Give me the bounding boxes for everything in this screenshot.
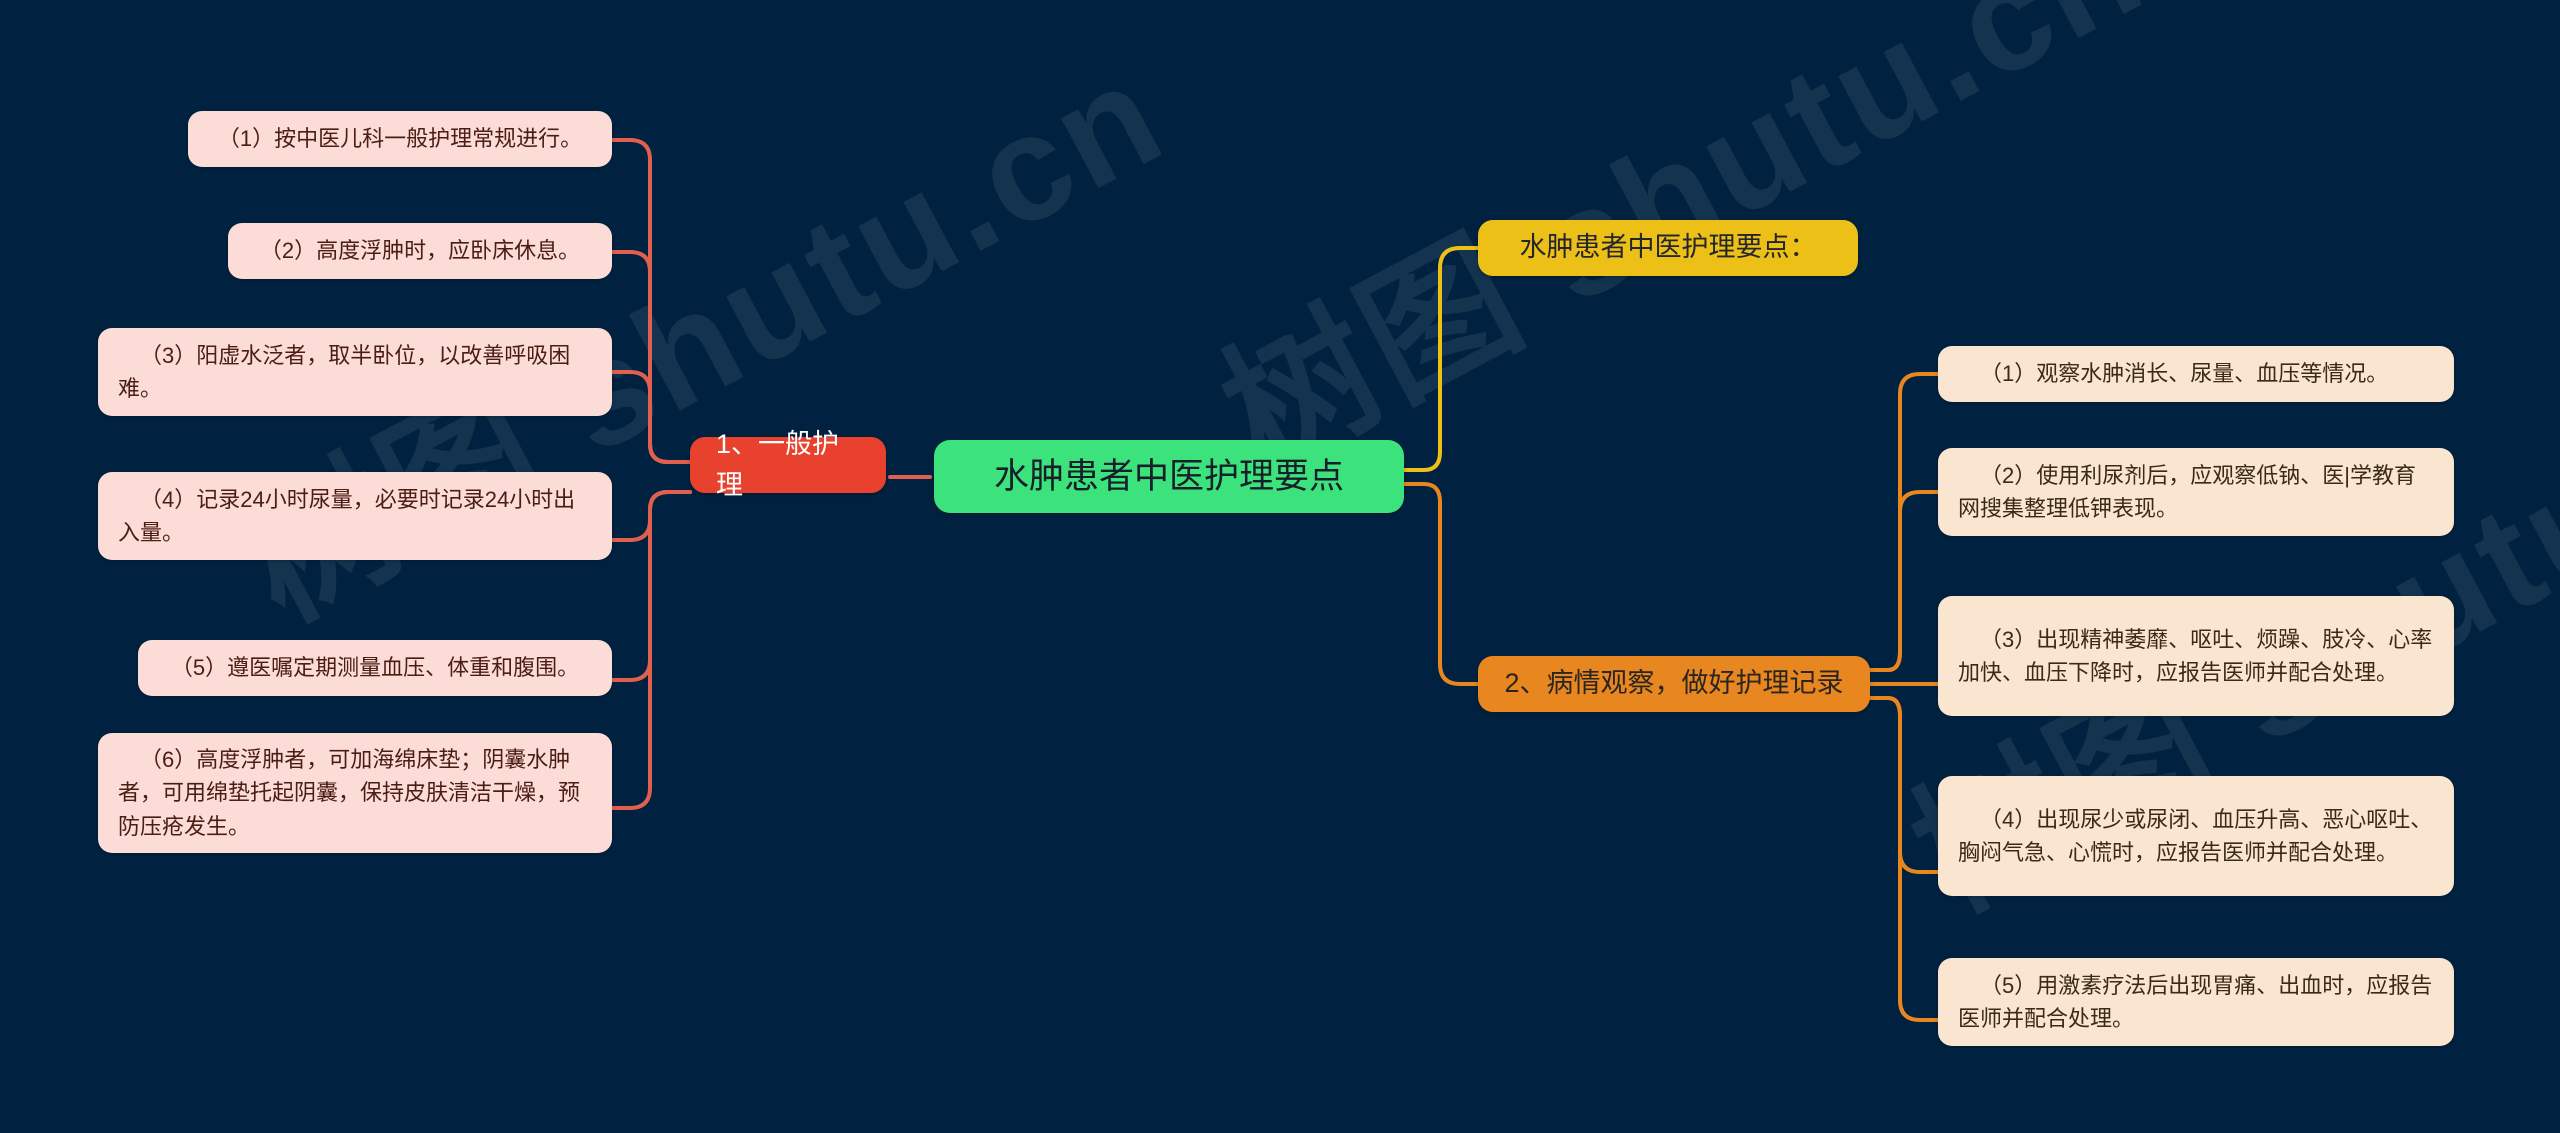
leaf-node[interactable]: （3）阳虚水泛者，取半卧位，以改善呼吸困难。 bbox=[98, 328, 612, 416]
leaf-node[interactable]: （1）观察水肿消长、尿量、血压等情况。 bbox=[1938, 346, 2454, 402]
leaf-node-label: （4）出现尿少或尿闭、血压升高、恶心呕吐、胸闷气急、心慌时，应报告医师并配合处理… bbox=[1958, 803, 2434, 870]
link-root-to-yellow-branch bbox=[1404, 248, 1478, 470]
root-node[interactable]: 水肿患者中医护理要点 bbox=[934, 440, 1404, 513]
link-right-leaf-1 bbox=[1870, 374, 1938, 670]
leaf-node[interactable]: （2）使用利尿剂后，应观察低钠、医|学教育网搜集整理低钾表现。 bbox=[1938, 448, 2454, 536]
leaf-node[interactable]: （5）遵医嘱定期测量血压、体重和腹围。 bbox=[138, 640, 612, 696]
leaf-node-label: （1）观察水肿消长、尿量、血压等情况。 bbox=[1958, 357, 2434, 390]
branch-node-key-points[interactable]: 水肿患者中医护理要点： bbox=[1478, 220, 1858, 276]
link-right-leaf-5 bbox=[1870, 698, 1938, 1020]
leaf-node[interactable]: （5）用激素疗法后出现胃痛、出血时，应报告医师并配合处理。 bbox=[1938, 958, 2454, 1046]
branch-node-general-care-label: 1、一般护理 bbox=[716, 424, 860, 506]
leaf-node-label: （2）使用利尿剂后，应观察低钠、医|学教育网搜集整理低钾表现。 bbox=[1958, 459, 2434, 526]
link-left-leaf-2 bbox=[612, 252, 690, 462]
leaf-node-label: （2）高度浮肿时，应卧床休息。 bbox=[248, 234, 592, 267]
branch-node-key-points-label: 水肿患者中医护理要点： bbox=[1520, 227, 1817, 268]
leaf-node[interactable]: （3）出现精神萎靡、呕吐、烦躁、肢冷、心率加快、血压下降时，应报告医师并配合处理… bbox=[1938, 596, 2454, 716]
leaf-node-label: （1）按中医儿科一般护理常规进行。 bbox=[208, 122, 592, 155]
link-left-leaf-1 bbox=[612, 140, 690, 462]
link-right-leaf-4 bbox=[1870, 698, 1938, 872]
link-left-leaf-5 bbox=[612, 492, 690, 680]
leaf-node-label: （5）遵医嘱定期测量血压、体重和腹围。 bbox=[158, 651, 592, 684]
mindmap-canvas: 树图 shutu.cn 树图 shutu.cn 树图 shutu.cn bbox=[0, 0, 2560, 1133]
link-root-to-orange-branch bbox=[1404, 484, 1478, 684]
leaf-node[interactable]: （6）高度浮肿者，可加海绵床垫；阴囊水肿者，可用绵垫托起阴囊，保持皮肤清洁干燥，… bbox=[98, 733, 612, 853]
leaf-node[interactable]: （4）记录24小时尿量，必要时记录24小时出入量。 bbox=[98, 472, 612, 560]
leaf-node-label: （3）出现精神萎靡、呕吐、烦躁、肢冷、心率加快、血压下降时，应报告医师并配合处理… bbox=[1958, 623, 2434, 690]
leaf-node-label: （3）阳虚水泛者，取半卧位，以改善呼吸困难。 bbox=[118, 339, 592, 406]
leaf-node[interactable]: （2）高度浮肿时，应卧床休息。 bbox=[228, 223, 612, 279]
link-left-leaf-3 bbox=[612, 372, 690, 462]
branch-node-general-care[interactable]: 1、一般护理 bbox=[690, 437, 886, 493]
root-node-label: 水肿患者中医护理要点 bbox=[994, 450, 1344, 503]
link-right-leaf-2 bbox=[1870, 492, 1938, 670]
leaf-node[interactable]: （1）按中医儿科一般护理常规进行。 bbox=[188, 111, 612, 167]
link-left-leaf-4 bbox=[612, 492, 690, 540]
leaf-node-label: （4）记录24小时尿量，必要时记录24小时出入量。 bbox=[118, 483, 592, 550]
link-left-leaf-6 bbox=[612, 492, 690, 808]
leaf-node[interactable]: （4）出现尿少或尿闭、血压升高、恶心呕吐、胸闷气急、心慌时，应报告医师并配合处理… bbox=[1938, 776, 2454, 896]
branch-node-condition-observation-label: 2、病情观察，做好护理记录 bbox=[1504, 663, 1843, 704]
branch-node-condition-observation[interactable]: 2、病情观察，做好护理记录 bbox=[1478, 656, 1870, 712]
leaf-node-label: （6）高度浮肿者，可加海绵床垫；阴囊水肿者，可用绵垫托起阴囊，保持皮肤清洁干燥，… bbox=[118, 743, 592, 843]
leaf-node-label: （5）用激素疗法后出现胃痛、出血时，应报告医师并配合处理。 bbox=[1958, 969, 2434, 1036]
